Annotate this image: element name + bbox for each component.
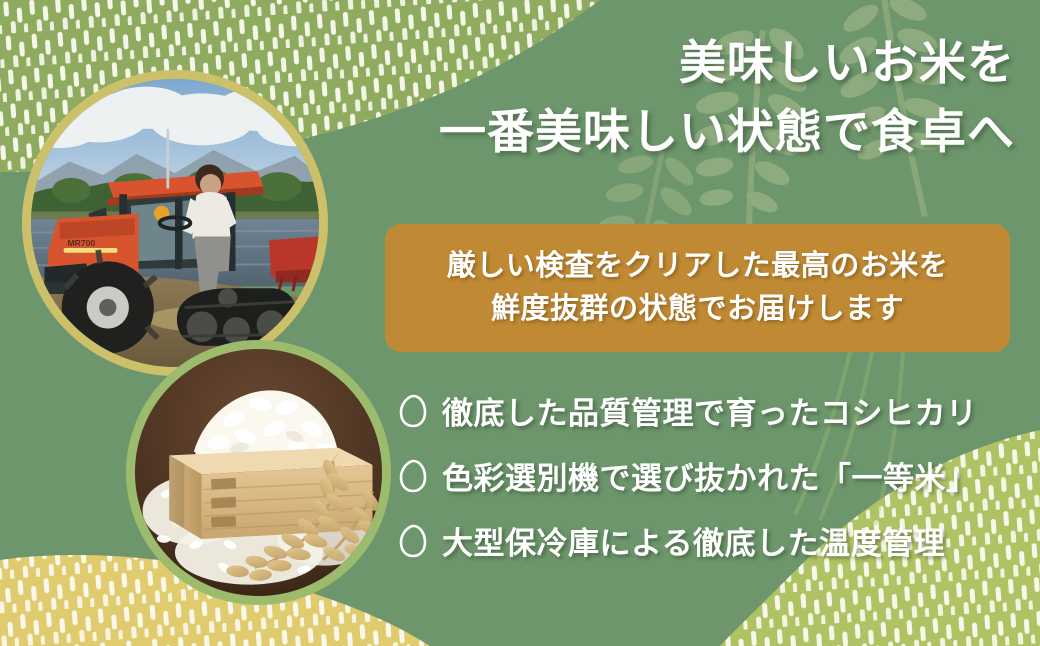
rice-grain-icon <box>398 458 428 494</box>
headline-line-1: 美味しいお米を <box>355 30 1015 97</box>
feature-list: 徹底した品質管理で育ったコシヒカリ 色彩選別機で選び抜かれた「一等米」 大型保冷… <box>398 378 1013 573</box>
headline-line-2: 一番美味しい状態で食卓へ <box>355 99 1015 166</box>
sub-banner-line-1: 厳しい検査をクリアした最高のお米を <box>447 245 949 289</box>
feature-item: 大型保冷庫による徹底した温度管理 <box>398 508 1013 573</box>
tractor-photo: MR700 <box>22 70 328 376</box>
feature-label: 色彩選別機で選び抜かれた「一等米」 <box>442 453 978 498</box>
sub-banner: 厳しい検査をクリアした最高のお米を 鮮度抜群の状態でお届けします <box>385 224 1010 352</box>
feature-item: 色彩選別機で選び抜かれた「一等米」 <box>398 443 1013 508</box>
rice-masu-photo <box>126 340 391 605</box>
rice-promo-poster: MR700 <box>0 0 1040 646</box>
rice-grain-icon <box>398 393 428 429</box>
rice-grain-icon <box>398 523 428 559</box>
feature-label: 大型保冷庫による徹底した温度管理 <box>442 518 945 563</box>
svg-text:MR700: MR700 <box>67 238 95 248</box>
sub-banner-line-2: 鮮度抜群の状態でお届けします <box>491 288 904 332</box>
feature-item: 徹底した品質管理で育ったコシヒカリ <box>398 378 1013 443</box>
feature-label: 徹底した品質管理で育ったコシヒカリ <box>442 388 978 433</box>
page-headline: 美味しいお米を 一番美味しい状態で食卓へ <box>355 30 1015 165</box>
